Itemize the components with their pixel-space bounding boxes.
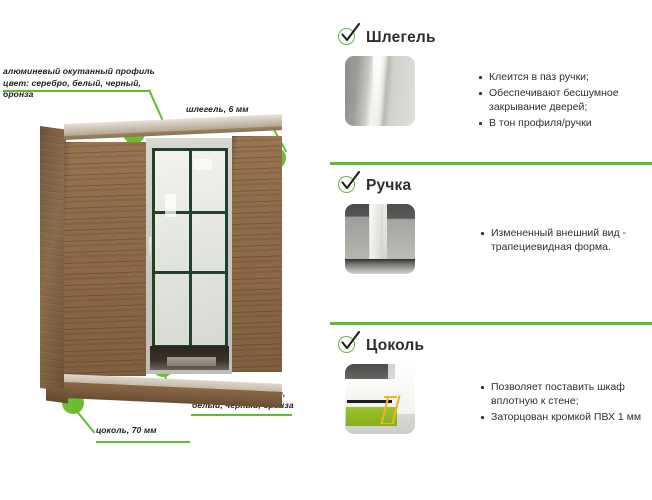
section-divider xyxy=(330,162,652,165)
mirror-glare-2 xyxy=(194,159,212,171)
thumb-door-left xyxy=(345,204,369,259)
wardrobe-door-mirror xyxy=(146,138,232,374)
callout-label-profile: алюминевый окутанный профиль цвет: сереб… xyxy=(3,66,173,101)
thumb-floor xyxy=(345,259,415,274)
mirror-reflection xyxy=(152,148,228,348)
wardrobe-handle xyxy=(149,237,151,263)
thumb-door-right xyxy=(387,204,415,259)
feature-section-shlegel: Шлегель Клеится в паз ручки; Обеспечиваю… xyxy=(330,20,652,160)
feature-section-ruchka: Ручка Измененный внешний вид - трапециев… xyxy=(330,168,652,320)
feature-title: Шлегель xyxy=(366,29,436,47)
thumb-cabinet-body xyxy=(345,379,397,408)
leader-line-plinth xyxy=(73,407,95,434)
leader-underline-plinth xyxy=(96,441,190,443)
wardrobe-graphic xyxy=(40,118,285,403)
bullet-item: Заторцован кромкой ПВХ 1 мм xyxy=(480,410,650,424)
check-circle-icon xyxy=(338,28,357,47)
wardrobe-side-panel xyxy=(40,126,66,392)
mirror-mullion-vertical xyxy=(189,151,192,345)
feature-header: Шлегель xyxy=(338,28,436,47)
feature-title: Ручка xyxy=(366,177,411,195)
mirror-floor xyxy=(150,346,229,370)
bullet-item: Позволяет поставить шкаф вплотную к стен… xyxy=(480,380,650,408)
check-circle-icon xyxy=(338,336,357,355)
feature-thumbnail-shlegel[interactable] xyxy=(345,56,415,126)
feature-section-tsokol: Цоколь Позволяет поставить шкаф вплотную… xyxy=(330,328,652,478)
bullet-item: Измененный внешний вид - трапециевидная … xyxy=(480,226,646,254)
feature-header: Цоколь xyxy=(338,336,424,355)
annotation-line-4 xyxy=(380,423,395,425)
wardrobe-door-right xyxy=(232,136,282,372)
mirror-mullion-horizontal-2 xyxy=(155,271,225,274)
feature-title: Цоколь xyxy=(366,337,424,355)
feature-bullet-list: Клеится в паз ручки; Обеспечивают бесшум… xyxy=(478,70,646,132)
check-circle-icon xyxy=(338,176,357,195)
annotation-line-3 xyxy=(384,396,397,398)
feature-header: Ручка xyxy=(338,176,411,195)
bullet-item: Обеспечивают бесшумное закрывание дверей… xyxy=(478,86,646,114)
mirror-glare-1 xyxy=(165,194,176,217)
leader-underline-profile xyxy=(3,90,149,92)
leader-underline-handles xyxy=(191,414,292,416)
wardrobe-door-left xyxy=(64,142,146,376)
callout-label-plinth: цоколь, 70 мм xyxy=(96,425,206,437)
wardrobe-illustration-panel: алюминевый окутанный профиль цвет: сереб… xyxy=(0,0,330,500)
slide-root: алюминевый окутанный профиль цвет: сереб… xyxy=(0,0,652,500)
section-divider xyxy=(330,322,652,325)
feature-thumbnail-tsokol[interactable] xyxy=(345,364,415,434)
mirror-rug xyxy=(167,357,216,366)
bullet-item: Клеится в паз ручки; xyxy=(478,70,646,84)
wardrobe-plinth-foot xyxy=(46,386,68,403)
feature-list-panel: Шлегель Клеится в паз ручки; Обеспечиваю… xyxy=(330,0,652,500)
feature-bullet-list: Измененный внешний вид - трапециевидная … xyxy=(480,226,646,256)
thumb-wall xyxy=(395,364,415,414)
feature-thumbnail-ruchka[interactable] xyxy=(345,204,415,274)
bullet-item: В тон профиля/ручки xyxy=(478,116,646,130)
feature-bullet-list: Позволяет поставить шкаф вплотную к стен… xyxy=(480,380,650,426)
